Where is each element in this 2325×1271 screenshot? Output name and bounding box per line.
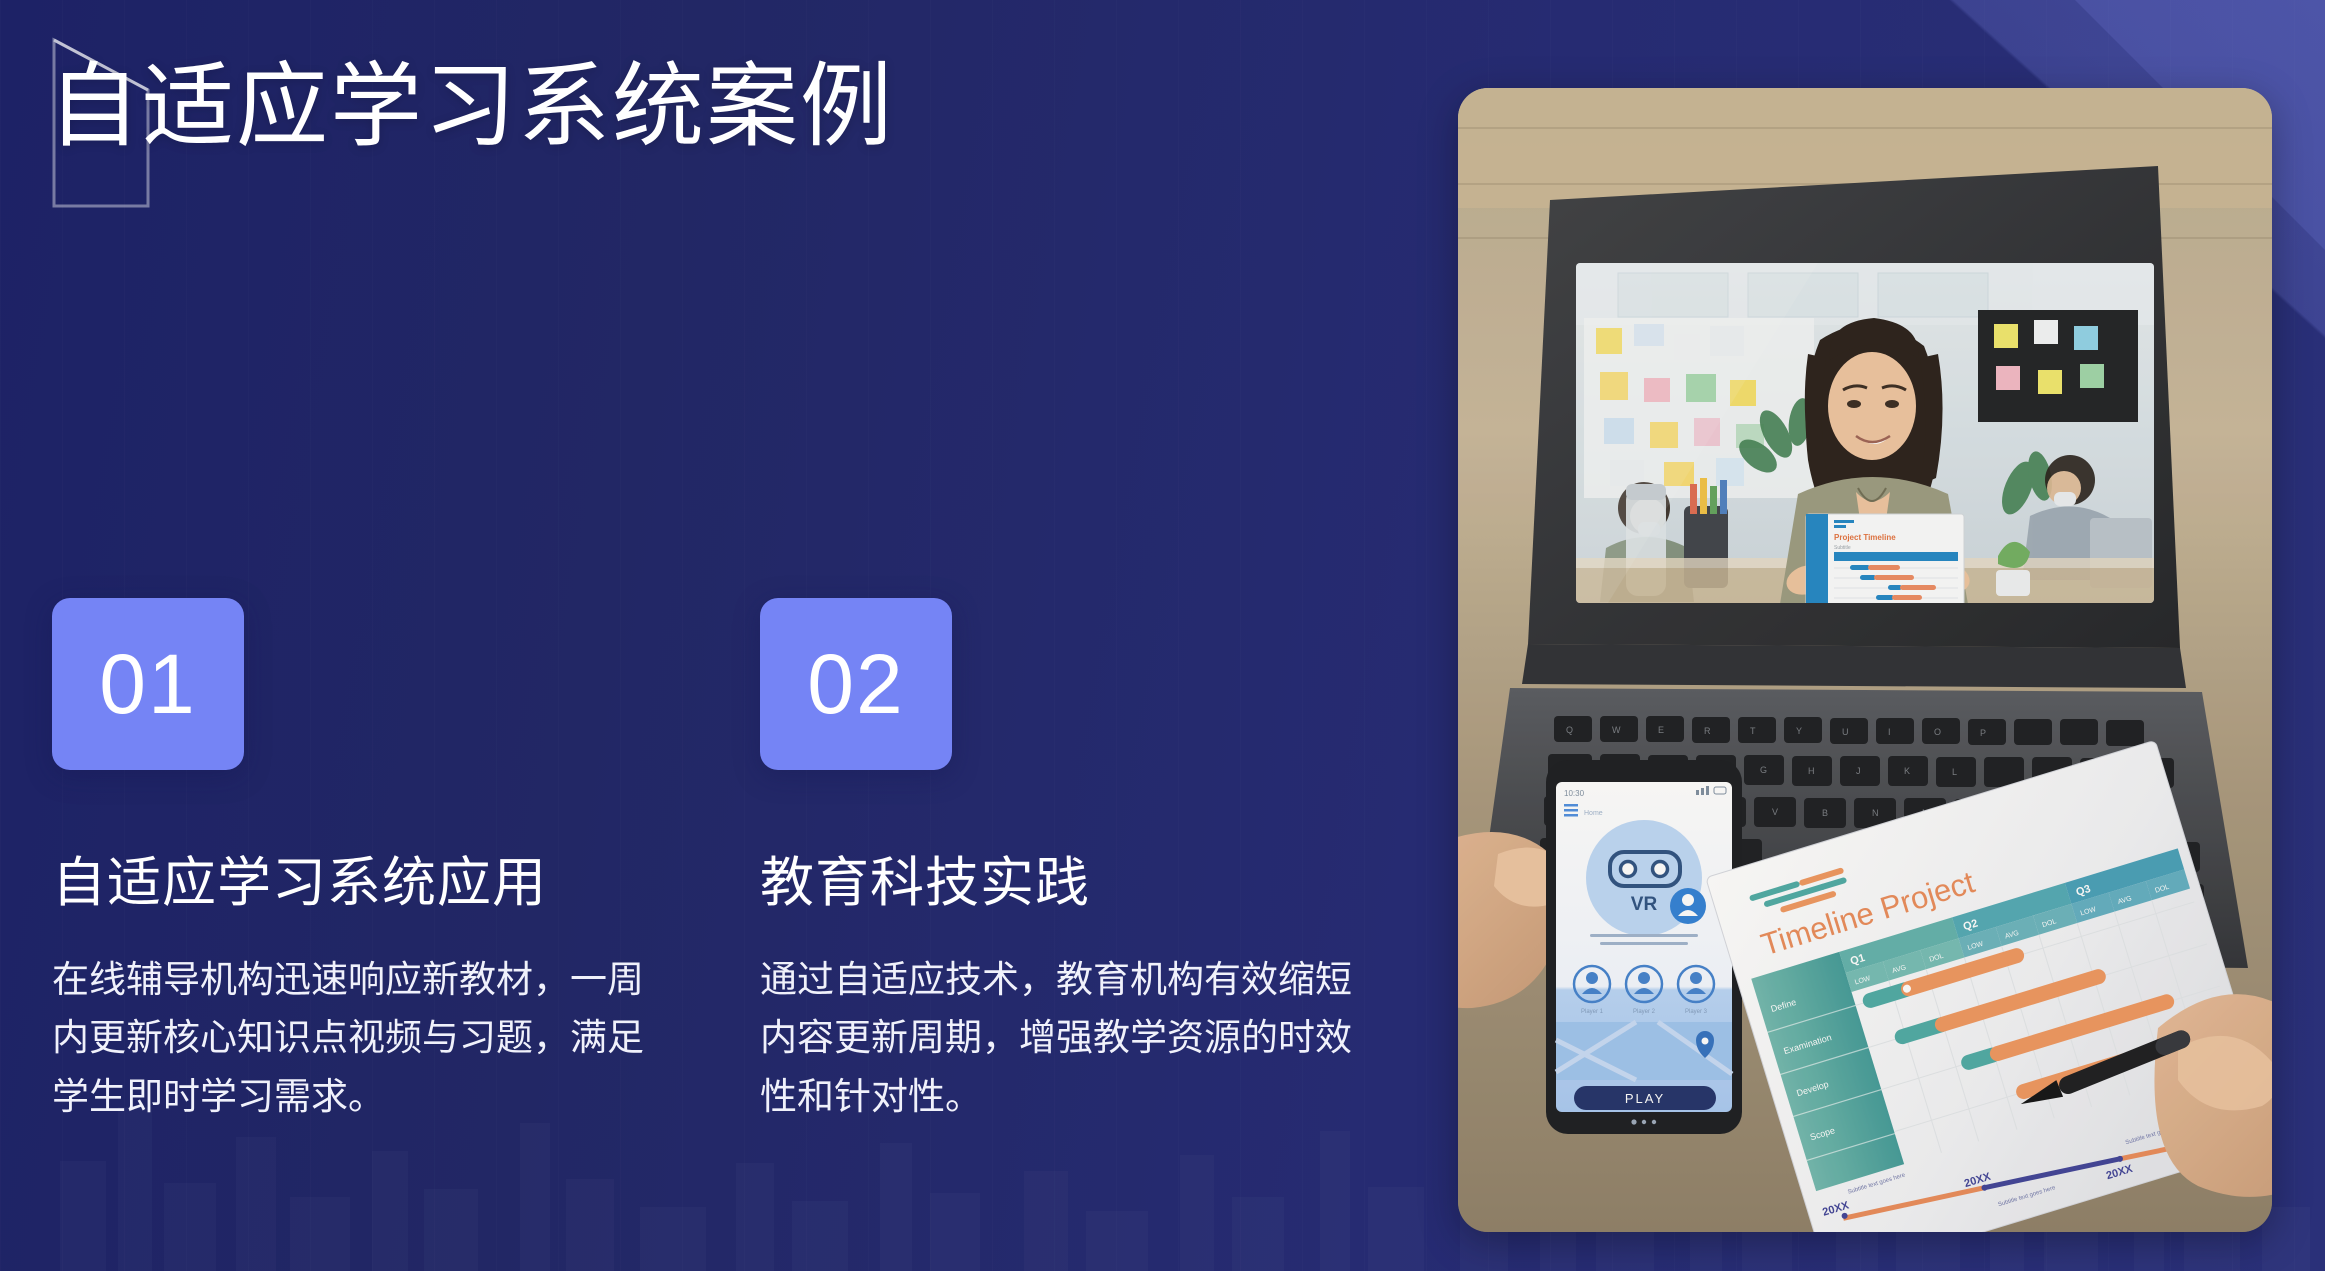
feature-item-01: 01 自适应学习系统应用 在线辅导机构迅速响应新教材，一周内更新核心知识点视频与… [52, 598, 760, 1126]
feature-item-02: 02 教育科技实践 通过自适应技术，教育机构有效缩短内容更新周期，增强教学资源的… [760, 598, 1390, 1126]
feature-number-01: 01 [99, 642, 196, 726]
slide-root: 自适应学习系统案例 01 自适应学习系统应用 在线辅导机构迅速响应新教材，一周内… [0, 0, 2325, 1271]
page-title: 自适应学习系统案例 [48, 58, 894, 157]
feature-description-01: 在线辅导机构迅速响应新教材，一周内更新核心知识点视频与习题，满足学生即时学习需求… [52, 951, 652, 1126]
page-title-block: 自适应学习系统案例 [48, 58, 894, 157]
feature-title-02: 教育科技实践 [760, 838, 1390, 917]
feature-number-badge-01: 01 [52, 598, 244, 770]
feature-description-02: 通过自适应技术，教育机构有效缩短内容更新周期，增强教学资源的时效性和针对性。 [760, 951, 1360, 1126]
feature-number-badge-02: 02 [760, 598, 952, 770]
feature-list: 01 自适应学习系统应用 在线辅导机构迅速响应新教材，一周内更新核心知识点视频与… [52, 598, 1392, 1126]
feature-photo: Project Timeline Subtitle [1458, 88, 2272, 1232]
feature-title-01: 自适应学习系统应用 [52, 838, 760, 917]
photo-illustration: Project Timeline Subtitle [1458, 88, 2272, 1232]
feature-number-02: 02 [807, 642, 904, 726]
